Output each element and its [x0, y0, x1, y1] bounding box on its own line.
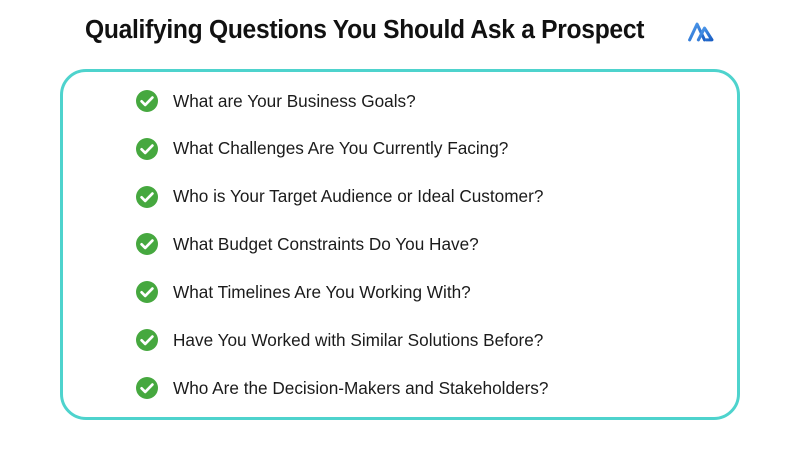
list-item-label: What are Your Business Goals?	[173, 92, 416, 111]
list-item: Who is Your Target Audience or Ideal Cus…	[135, 182, 725, 212]
mountain-m-logo-icon	[687, 18, 715, 46]
green-check-circle-icon	[135, 328, 159, 352]
list-item-label: Who Are the Decision-Makers and Stakehol…	[173, 379, 548, 398]
list-item-label: What Challenges Are You Currently Facing…	[173, 139, 508, 158]
green-check-circle-icon	[135, 89, 159, 113]
green-check-circle-icon	[135, 137, 159, 161]
green-check-circle-icon	[135, 232, 159, 256]
page-title: Qualifying Questions You Should Ask a Pr…	[85, 18, 644, 44]
slide-root: Qualifying Questions You Should Ask a Pr…	[0, 0, 800, 450]
header-inner: Qualifying Questions You Should Ask a Pr…	[85, 17, 714, 46]
green-check-circle-icon	[135, 280, 159, 304]
list-item: What Timelines Are You Working With?	[135, 277, 725, 307]
list-item-label: What Budget Constraints Do You Have?	[173, 235, 479, 254]
green-check-circle-icon	[135, 376, 159, 400]
checklist: What are Your Business Goals? What Chall…	[135, 86, 725, 403]
list-item: What are Your Business Goals?	[135, 86, 725, 116]
green-check-circle-icon	[135, 185, 159, 209]
list-item: Who Are the Decision-Makers and Stakehol…	[135, 373, 725, 403]
list-item: Have You Worked with Similar Solutions B…	[135, 325, 725, 355]
header: Qualifying Questions You Should Ask a Pr…	[0, 0, 800, 62]
list-item: What Budget Constraints Do You Have?	[135, 229, 725, 259]
list-item: What Challenges Are You Currently Facing…	[135, 134, 725, 164]
list-item-label: Who is Your Target Audience or Ideal Cus…	[173, 187, 543, 206]
checklist-card: What are Your Business Goals? What Chall…	[60, 69, 740, 420]
list-item-label: What Timelines Are You Working With?	[173, 283, 471, 302]
list-item-label: Have You Worked with Similar Solutions B…	[173, 331, 543, 350]
